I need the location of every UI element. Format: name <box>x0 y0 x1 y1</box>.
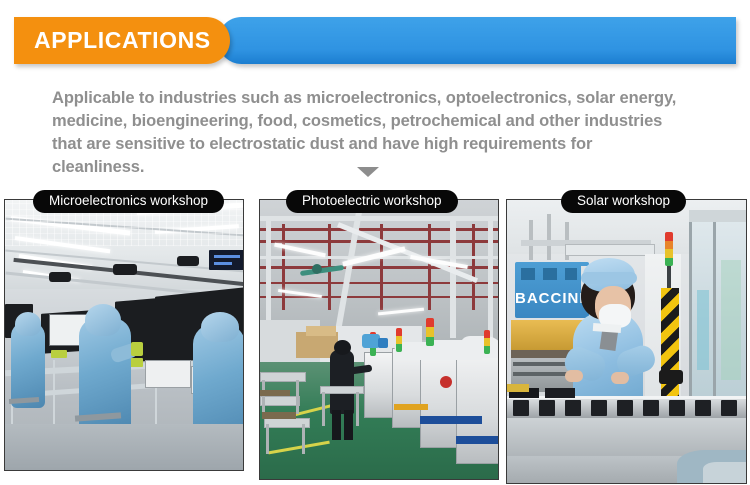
gallery-item-photoelectric[interactable]: Photoelectric workshop <box>259 199 499 480</box>
header-orange-tab: APPLICATIONS <box>14 17 230 64</box>
gallery-caption-solar: Solar workshop <box>561 190 686 213</box>
application-gallery: Microelectronics workshop <box>0 190 750 485</box>
description-paragraph: Applicable to industries such as microel… <box>52 87 684 179</box>
photo-solar-workshop: BACCINI <box>507 200 746 483</box>
photo-frame <box>4 199 244 471</box>
page-title: APPLICATIONS <box>34 17 211 64</box>
gallery-caption-microelectronics: Microelectronics workshop <box>33 190 224 213</box>
photo-microelectronics-workshop <box>5 200 243 470</box>
section-header-banner: APPLICATIONS <box>14 17 736 64</box>
photo-frame <box>259 199 499 480</box>
machine-brand-label: BACCINI <box>515 290 585 307</box>
gallery-item-solar[interactable]: BACCINI <box>506 199 747 484</box>
gallery-caption-photoelectric: Photoelectric workshop <box>286 190 458 213</box>
photo-photoelectric-workshop <box>260 200 498 479</box>
gallery-item-microelectronics[interactable]: Microelectronics workshop <box>4 199 244 471</box>
chevron-down-icon <box>357 167 379 177</box>
photo-frame: BACCINI <box>506 199 747 484</box>
header-blue-bar <box>218 17 736 64</box>
